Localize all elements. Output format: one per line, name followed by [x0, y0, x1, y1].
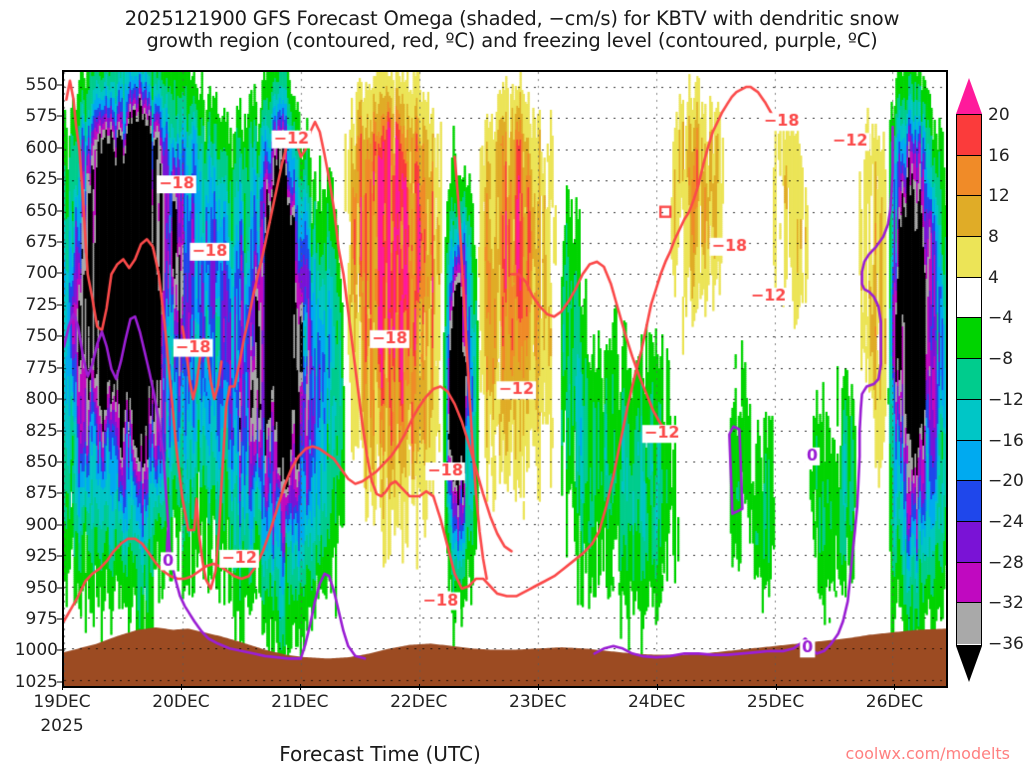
colorbar-tick-label: −24: [988, 512, 1024, 532]
colorbar-legend: 20161284−4−8−12−16−20−24−28−32−36: [956, 78, 982, 682]
colorbar-swatch: [957, 115, 981, 156]
colorbar-over-arrow: [956, 78, 982, 114]
x-tick-mark: [776, 684, 777, 690]
y-tick-label: 700: [2, 263, 58, 283]
y-tick-label: 850: [2, 452, 58, 472]
y-tick-label: 675: [2, 232, 58, 252]
x-axis-title: Forecast Time (UTC): [0, 742, 760, 766]
colorbar-swatch: [957, 603, 981, 644]
y-tick-label: 925: [2, 546, 58, 566]
x-tick-label: 25DEC: [747, 692, 804, 712]
y-tick-label: 950: [2, 578, 58, 598]
colorbar-swatch: [957, 481, 981, 522]
x-tick-label: 21DEC: [271, 692, 328, 712]
x-tick-mark: [538, 684, 539, 690]
title-line-2: growth region (contoured, red, ºC) and f…: [0, 30, 1024, 52]
title-line-1: 2025121900 GFS Forecast Omega (shaded, −…: [0, 8, 1024, 30]
x-tick-label: 24DEC: [628, 692, 685, 712]
colorbar-tick-label: 16: [988, 146, 1010, 166]
colorbar-tick-label: −36: [988, 634, 1024, 654]
y-tick-label: 625: [2, 169, 58, 189]
colorbar-tick-label: 20: [988, 105, 1010, 125]
x-axis: 19DEC20DEC21DEC22DEC23DEC24DEC25DEC26DEC…: [62, 690, 948, 750]
forecast-omega-chart: 2025121900 GFS Forecast Omega (shaded, −…: [0, 0, 1024, 768]
y-tick-label: 800: [2, 389, 58, 409]
colorbar-tick-label: −20: [988, 471, 1024, 491]
colorbar-tick-label: −8: [988, 349, 1013, 369]
colorbar-under-arrow: [956, 646, 982, 682]
colorbar-swatch: [957, 359, 981, 400]
y-axis: 5505756006256506757007257507758008258508…: [0, 70, 58, 688]
colorbar-swatch: [957, 237, 981, 278]
colorbar-swatch: [957, 196, 981, 237]
y-tick-label: 600: [2, 138, 58, 158]
x-tick-mark: [657, 684, 658, 690]
x-tick-label: 26DEC: [866, 692, 923, 712]
colorbar-body: [956, 114, 982, 646]
colorbar-tick-label: −16: [988, 431, 1024, 451]
y-tick-label: 775: [2, 358, 58, 378]
y-tick-label: 575: [2, 106, 58, 126]
x-tick-label: 20DEC: [152, 692, 209, 712]
y-tick-label: 975: [2, 609, 58, 629]
y-tick-label: 725: [2, 295, 58, 315]
x-tick-mark: [181, 684, 182, 690]
x-tick-label: 22DEC: [390, 692, 447, 712]
x-tick-mark: [894, 684, 895, 690]
x-tick-mark: [62, 684, 63, 690]
colorbar-swatch: [957, 400, 981, 441]
colorbar-tick-label: −28: [988, 553, 1024, 573]
y-tick-label: 1025: [2, 672, 58, 692]
y-tick-label: 550: [2, 75, 58, 95]
y-tick-label: 750: [2, 326, 58, 346]
x-tick-mark: [419, 684, 420, 690]
colorbar-swatch: [957, 563, 981, 604]
colorbar-tick-label: −12: [988, 390, 1024, 410]
x-axis-year: 2025: [40, 716, 83, 736]
colorbar-swatch: [957, 156, 981, 197]
colorbar-tick-label: −4: [988, 308, 1013, 328]
x-tick-mark: [300, 684, 301, 690]
colorbar-tick-label: 12: [988, 186, 1010, 206]
y-tick-label: 900: [2, 515, 58, 535]
x-tick-label: 19DEC: [33, 692, 90, 712]
plot-area: [62, 70, 948, 688]
page-title: 2025121900 GFS Forecast Omega (shaded, −…: [0, 8, 1024, 52]
omega-shading-canvas: [64, 72, 946, 686]
colorbar-swatch: [957, 318, 981, 359]
colorbar-swatch: [957, 278, 981, 319]
x-tick-label: 23DEC: [509, 692, 566, 712]
y-tick-label: 875: [2, 483, 58, 503]
y-tick-label: 825: [2, 421, 58, 441]
colorbar-tick-label: 4: [988, 268, 999, 288]
colorbar-swatch: [957, 522, 981, 563]
y-tick-label: 650: [2, 201, 58, 221]
colorbar-tick-label: −32: [988, 593, 1024, 613]
y-tick-label: 1000: [2, 640, 58, 660]
colorbar-tick-label: 8: [988, 227, 999, 247]
colorbar-swatch: [957, 441, 981, 482]
watermark-link[interactable]: coolwx.com/modelts: [846, 744, 1010, 763]
